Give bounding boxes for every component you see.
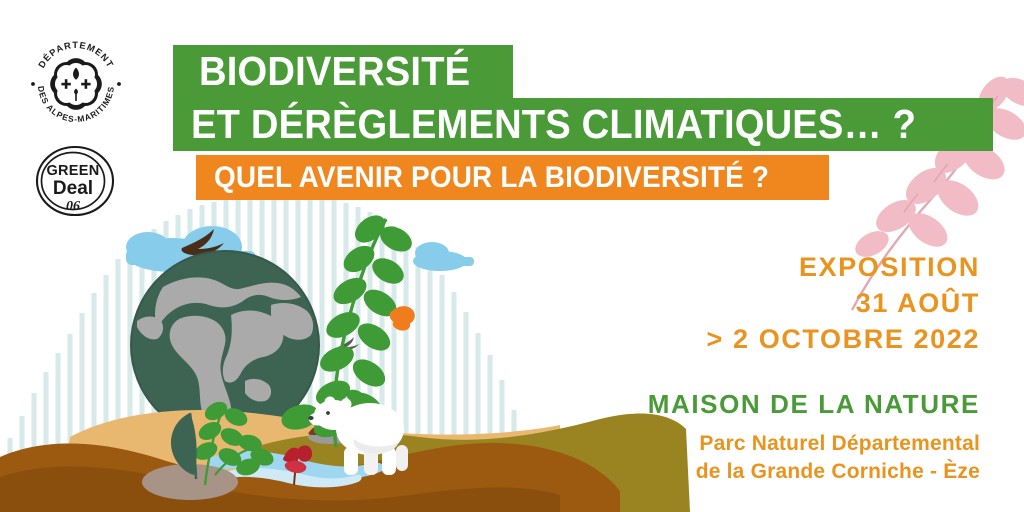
subtitle-text: QUEL AVENIR POUR LA BIODIVERSITÉ ? xyxy=(214,161,769,195)
venue-sub-line2: de la Grande Corniche - Èze xyxy=(560,458,980,487)
venue-name: MAISON DE LA NATURE xyxy=(560,388,980,422)
event-date-end: > 2 OCTOBRE 2022 xyxy=(560,322,980,358)
poster-canvas: DÉPARTEMENT DES ALPES-MARITIMES xyxy=(0,0,1024,512)
event-info-block: EXPOSITION 31 AOÛT > 2 OCTOBRE 2022 MAIS… xyxy=(560,250,980,487)
event-date-start: 31 AOÛT xyxy=(560,286,980,322)
venue-sub-line1: Parc Naturel Départemental xyxy=(560,430,980,459)
subtitle-band: QUEL AVENIR POUR LA BIODIVERSITÉ ? xyxy=(196,155,829,200)
green-deal-line1: GREEN xyxy=(46,163,99,179)
title-line2-text: ET DÉRÈGLEMENTS CLIMATIQUES… ? xyxy=(191,101,916,148)
event-kind: EXPOSITION xyxy=(560,250,980,286)
title-band-line1: BIODIVERSITÉ xyxy=(173,45,513,98)
title-line1-text: BIODIVERSITÉ xyxy=(199,48,470,95)
venue-block: MAISON DE LA NATURE Parc Naturel Départe… xyxy=(560,388,980,487)
departement-alpes-maritimes-logo: DÉPARTEMENT DES ALPES-MARITIMES xyxy=(24,32,128,136)
cloud-small xyxy=(413,242,474,271)
title-band-line2: ET DÉRÈGLEMENTS CLIMATIQUES… ? xyxy=(173,98,993,151)
